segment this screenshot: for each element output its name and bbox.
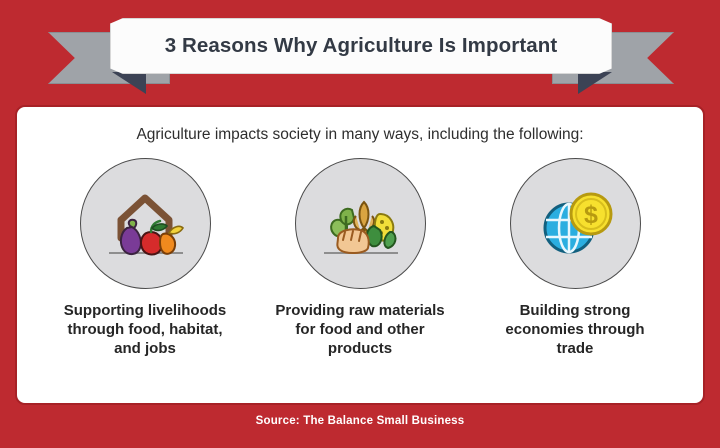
subtitle-text: Agriculture impacts society in many ways…: [17, 126, 703, 144]
ribbon-banner: 3 Reasons Why Agriculture Is Important: [110, 18, 612, 74]
infographic-root: 3 Reasons Why Agriculture Is Important A…: [0, 0, 720, 448]
ribbon-header: 3 Reasons Why Agriculture Is Important: [0, 0, 720, 100]
bread-wheat-corn-icon: [295, 158, 426, 289]
globe-dollar-coin-icon: $: [510, 158, 641, 289]
reason-item-3: $ Building strong economies through trad…: [485, 158, 665, 359]
svg-text:$: $: [584, 201, 598, 229]
reason-caption-3: Building strong economies through trade: [485, 301, 665, 359]
farmhouse-vegetables-icon: [80, 158, 211, 289]
globe-dollar-coin-svg: $: [527, 176, 623, 272]
reason-caption-2: Providing raw materials for food and oth…: [270, 301, 450, 359]
page-title: 3 Reasons Why Agriculture Is Important: [165, 34, 558, 58]
reason-item-2: Providing raw materials for food and oth…: [270, 158, 450, 359]
bread-wheat-corn-svg: [312, 176, 408, 272]
content-card: Agriculture impacts society in many ways…: [15, 105, 705, 405]
farmhouse-vegetables-svg: [97, 176, 193, 272]
reason-caption-1: Supporting livelihoods through food, hab…: [55, 301, 235, 359]
reason-item-1: Supporting livelihoods through food, hab…: [55, 158, 235, 359]
reasons-row: Supporting livelihoods through food, hab…: [17, 158, 703, 359]
source-credit: Source: The Balance Small Business: [0, 415, 720, 427]
